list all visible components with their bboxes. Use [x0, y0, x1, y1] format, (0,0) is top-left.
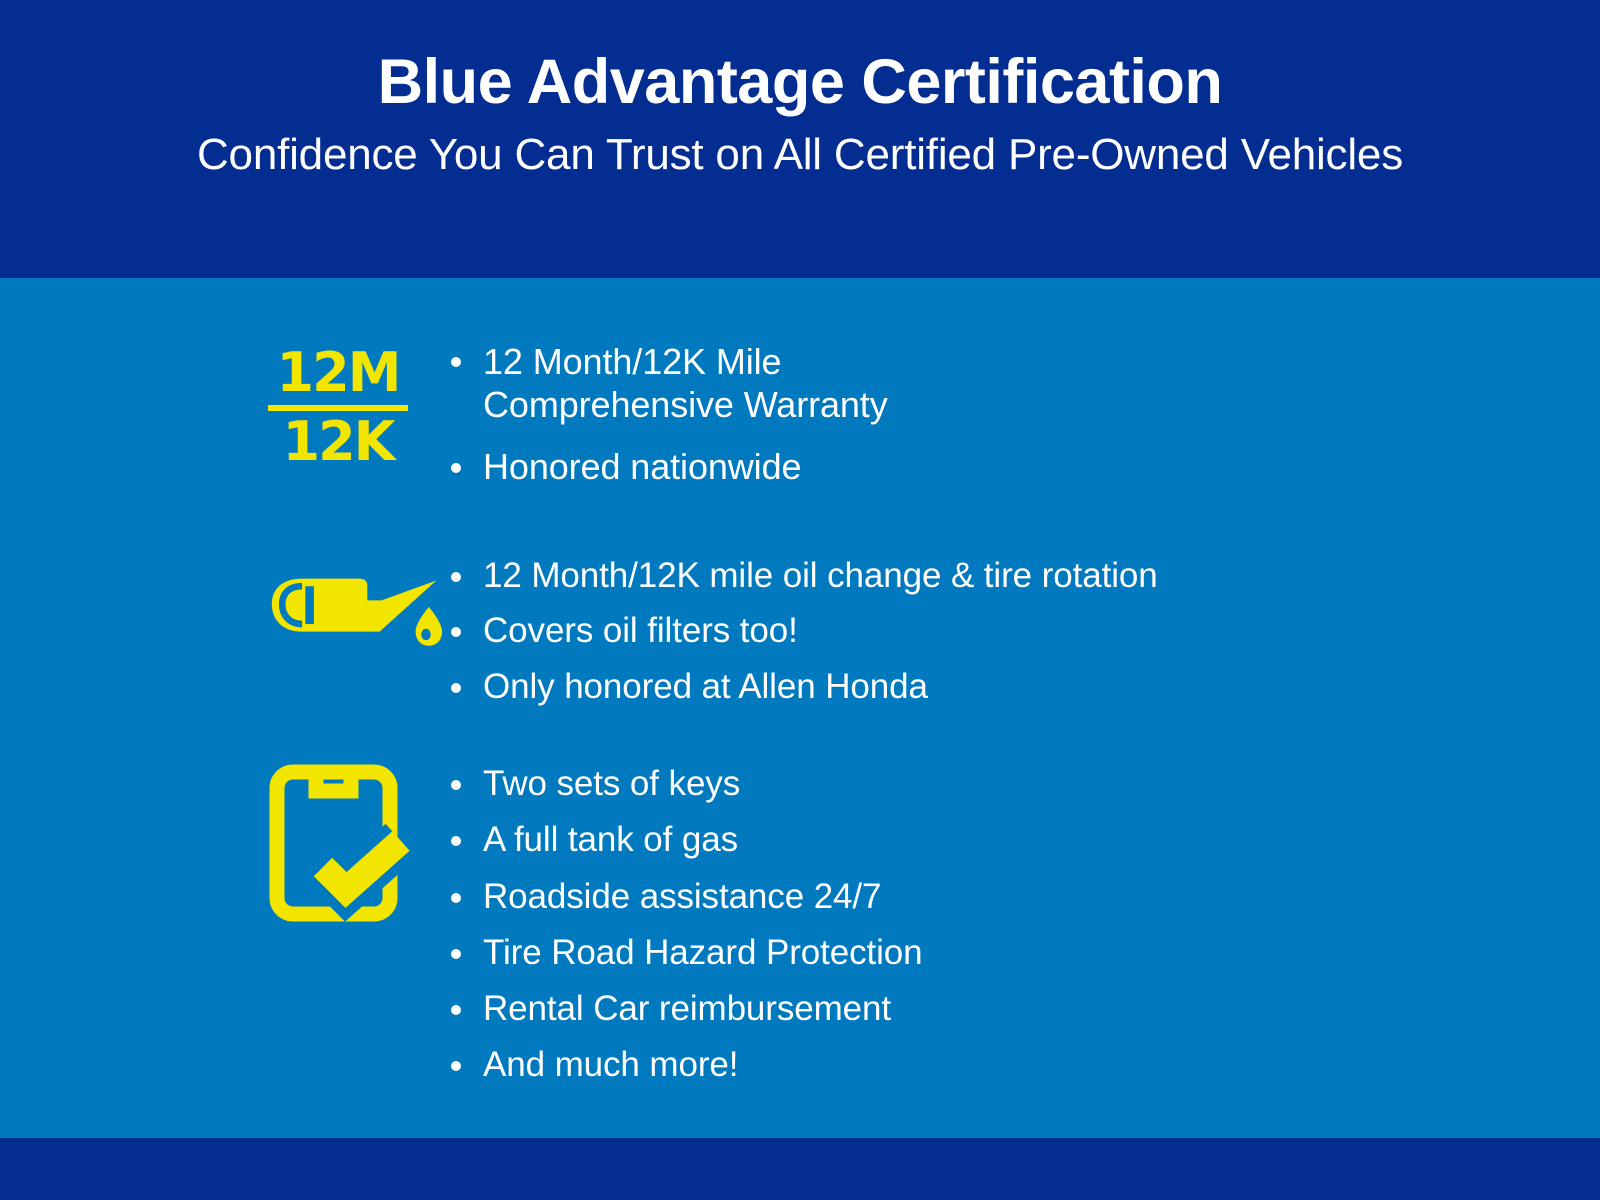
feature-row-warranty: 12M 12K 12 Month/12K Mile Comprehensive …	[268, 340, 888, 509]
bullet-list-maintenance: 12 Month/12K mile oil change & tire rota…	[443, 555, 1158, 721]
bullet-list-warranty: 12 Month/12K Mile Comprehensive Warranty…	[443, 340, 888, 509]
list-item: 12 Month/12K Mile Comprehensive Warranty	[443, 340, 888, 426]
fraction-denominator-label: 12K	[283, 415, 394, 469]
page-subtitle: Confidence You Can Trust on All Certifie…	[197, 130, 1403, 181]
bullet-list-extras: Two sets of keys A full tank of gas Road…	[443, 763, 923, 1101]
list-item: Two sets of keys	[443, 763, 923, 804]
clipboard-check-icon	[268, 763, 418, 923]
icon-cell: 12M 12K	[268, 340, 443, 469]
feature-row-extras: Two sets of keys A full tank of gas Road…	[268, 763, 923, 1101]
fraction-numerator-label: 12M	[277, 346, 400, 400]
list-item: Roadside assistance 24/7	[443, 876, 923, 917]
header-band: Blue Advantage Certification Confidence …	[0, 0, 1600, 278]
icon-cell	[268, 555, 443, 660]
list-item: A full tank of gas	[443, 819, 923, 860]
blue-advantage-poster: Blue Advantage Certification Confidence …	[0, 0, 1600, 1200]
list-item: Covers oil filters too!	[443, 610, 1158, 651]
features-section: 12M 12K 12 Month/12K Mile Comprehensive …	[0, 278, 1600, 1138]
list-item: Tire Road Hazard Protection	[443, 932, 923, 973]
12m-12k-fraction-icon: 12M 12K	[268, 346, 408, 469]
list-item: Honored nationwide	[443, 446, 888, 488]
icon-cell	[268, 763, 443, 923]
list-item: 12 Month/12K mile oil change & tire rota…	[443, 555, 1158, 596]
oil-can-icon	[268, 555, 443, 660]
oil-drop	[416, 607, 442, 646]
feature-row-maintenance: 12 Month/12K mile oil change & tire rota…	[268, 555, 1158, 721]
list-item: Rental Car reimbursement	[443, 988, 923, 1029]
footer-band	[0, 1138, 1600, 1200]
list-item: Only honored at Allen Honda	[443, 666, 1158, 707]
list-item: And much more!	[443, 1044, 923, 1085]
page-title: Blue Advantage Certification	[378, 48, 1223, 116]
